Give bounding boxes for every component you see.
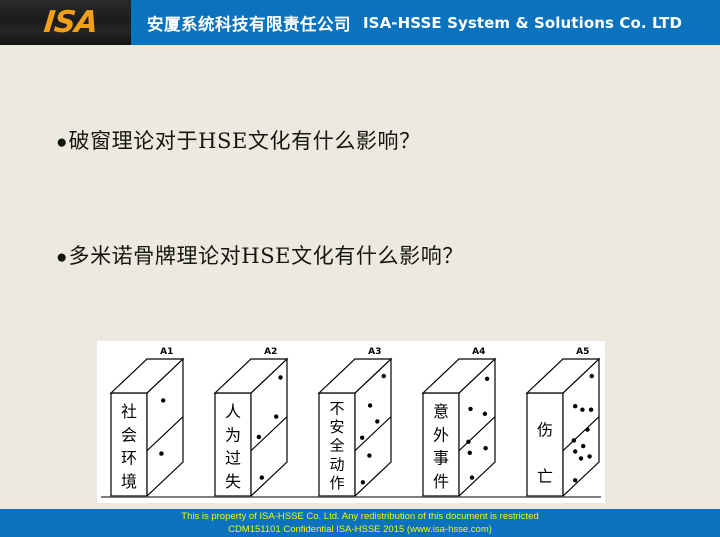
domino-caption-char: 作 bbox=[329, 474, 344, 492]
domino-caption-char: 亡 bbox=[537, 467, 553, 486]
isa-logo: ISA bbox=[25, 6, 115, 39]
domino-caption-char: 事 bbox=[433, 449, 449, 468]
domino-pip bbox=[590, 374, 594, 378]
domino-caption-char: 伤 bbox=[537, 420, 553, 439]
domino-caption-char: 全 bbox=[329, 437, 344, 455]
domino-pip bbox=[159, 451, 163, 455]
bullet-dot-icon: ● bbox=[56, 248, 67, 267]
domino-pip bbox=[382, 374, 386, 378]
domino-pip bbox=[375, 419, 379, 423]
domino-caption-char: 动 bbox=[329, 455, 344, 473]
footer-line-2: CDM151101 Confidential ISA-HSSE 2015 (ww… bbox=[228, 523, 492, 536]
domino-pip bbox=[581, 444, 585, 448]
domino-caption-char: 人 bbox=[225, 402, 241, 421]
domino-pip bbox=[278, 375, 282, 379]
domino-pip bbox=[360, 436, 364, 440]
header-title: 安厦系统科技有限责任公司 ISA-HSSE System & Solutions… bbox=[147, 0, 682, 45]
domino-caption-char: 为 bbox=[225, 425, 241, 444]
domino-label: A3 bbox=[368, 347, 381, 357]
domino-caption-char: 件 bbox=[433, 472, 449, 491]
domino-pip bbox=[587, 454, 591, 458]
bullet-text-2: 多米诺骨牌理论对HSE文化有什么影响？ bbox=[68, 246, 463, 267]
domino-label: A4 bbox=[472, 347, 485, 357]
domino-theory-diagram: A1社会环境A2人为过失A3不安全动作A4意外事件A5伤亡 bbox=[97, 341, 605, 503]
domino-pip bbox=[470, 475, 474, 479]
isa-logo-text: ISA bbox=[42, 8, 98, 38]
domino-pip bbox=[573, 478, 577, 482]
domino-caption-char: 社 bbox=[121, 402, 137, 421]
domino-caption-char: 外 bbox=[433, 425, 449, 444]
domino-caption-char: 过 bbox=[225, 449, 241, 468]
domino-pip bbox=[572, 438, 576, 442]
footer-line-1: This is property of ISA-HSSE Co. Ltd. An… bbox=[181, 510, 538, 523]
domino-pip bbox=[579, 456, 583, 460]
domino-caption-char: 会 bbox=[121, 425, 137, 444]
domino-pip bbox=[361, 480, 365, 484]
domino-pip bbox=[468, 451, 472, 455]
domino-pip bbox=[585, 427, 589, 431]
domino-caption-char: 失 bbox=[225, 472, 241, 491]
domino-pip bbox=[161, 398, 165, 402]
bullet-text-1: 破窗理论对于HSE文化有什么影响？ bbox=[68, 131, 420, 152]
company-name-en: ISA-HSSE System & Solutions Co. LTD bbox=[363, 14, 682, 32]
slide: ISA 安厦系统科技有限责任公司 ISA-HSSE System & Solut… bbox=[0, 0, 720, 537]
domino-pip bbox=[274, 414, 278, 418]
domino-label: A1 bbox=[160, 347, 173, 357]
domino-pip bbox=[483, 446, 487, 450]
slide-header: ISA 安厦系统科技有限责任公司 ISA-HSSE System & Solut… bbox=[0, 0, 720, 45]
domino-pip bbox=[573, 449, 577, 453]
domino-pip bbox=[260, 475, 264, 479]
domino-pip bbox=[368, 403, 372, 407]
domino-pip bbox=[367, 453, 371, 457]
domino-pip bbox=[589, 408, 593, 412]
domino-caption-char: 境 bbox=[121, 472, 137, 491]
domino-caption-char: 安 bbox=[329, 418, 344, 436]
domino-pip bbox=[483, 412, 487, 416]
domino-pip bbox=[485, 377, 489, 381]
company-name-cn: 安厦系统科技有限责任公司 bbox=[147, 11, 351, 35]
domino-pip bbox=[466, 440, 470, 444]
domino-caption-char: 环 bbox=[121, 449, 137, 468]
domino-caption-char: 意 bbox=[433, 402, 449, 421]
slide-footer: This is property of ISA-HSSE Co. Ltd. An… bbox=[0, 509, 720, 537]
domino-label: A5 bbox=[576, 347, 589, 357]
domino-pip bbox=[468, 407, 472, 411]
bullet-item-2: ● 多米诺骨牌理论对HSE文化有什么影响？ bbox=[56, 246, 464, 267]
domino-caption-char: 不 bbox=[329, 400, 344, 418]
domino-label: A2 bbox=[264, 347, 277, 357]
domino-pip bbox=[580, 408, 584, 412]
bullet-item-1: ● 破窗理论对于HSE文化有什么影响？ bbox=[56, 131, 421, 152]
domino-diagram-svg: A1社会环境A2人为过失A3不安全动作A4意外事件A5伤亡 bbox=[97, 341, 605, 503]
domino-pip bbox=[573, 404, 577, 408]
bullet-dot-icon: ● bbox=[56, 133, 67, 152]
domino-pip bbox=[257, 435, 261, 439]
